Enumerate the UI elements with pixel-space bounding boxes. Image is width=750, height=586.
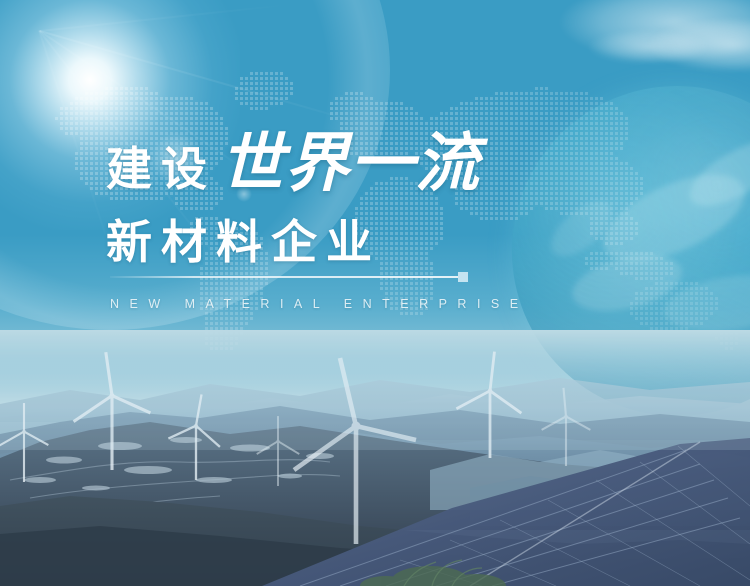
- banner-subtitle: NEW MATERIAL ENTERPRISE: [110, 297, 529, 311]
- headline-prefix: 建设: [106, 146, 216, 192]
- headline-divider: [110, 272, 475, 282]
- landscape-photo: [0, 330, 750, 586]
- headline-block: 建设 世界一流 新材料企业: [106, 131, 526, 265]
- cloud: [588, 30, 708, 64]
- divider-line: [110, 276, 458, 278]
- sun-ray: [39, 30, 386, 131]
- divider-end-cap: [458, 272, 468, 282]
- headline-line-2: 新材料企业: [106, 219, 526, 265]
- cloud: [560, 0, 750, 62]
- sun-ray: [40, 4, 289, 32]
- headline-line-1: 建设 世界一流: [106, 131, 526, 205]
- hero-banner: 建设 世界一流 新材料企业 NEW MATERIAL ENTERPRISE: [0, 0, 750, 586]
- cloud: [648, 18, 750, 72]
- headline-emphasis: 世界一流: [220, 131, 480, 195]
